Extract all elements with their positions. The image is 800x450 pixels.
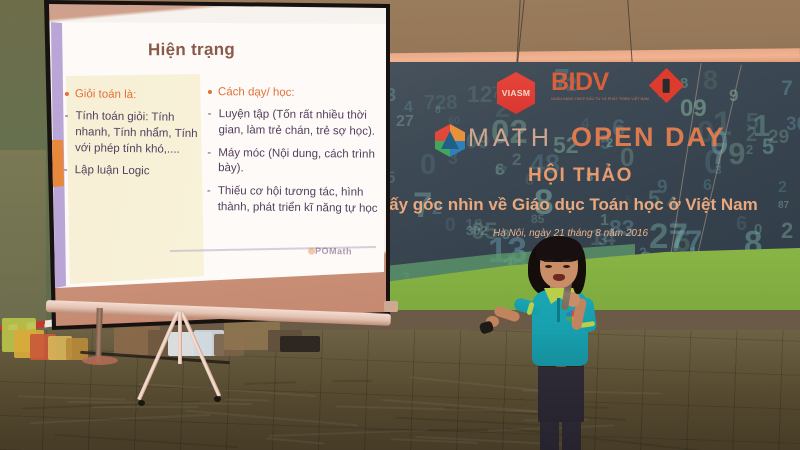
pomath-dot-icon: [308, 248, 315, 255]
bidv-diamond-icon: [649, 68, 684, 103]
tripod-foot-right: [214, 396, 221, 402]
speaker-brow-right: [562, 260, 571, 262]
dash-icon: -: [207, 184, 211, 200]
speaker-brow-left: [544, 260, 553, 262]
banner-number: 6: [736, 213, 747, 236]
slide-column-left-heading: Giỏi toán là:: [65, 88, 200, 104]
speaker-eye-left: [545, 265, 552, 268]
conference-photo-scene: 0927020193867152526038150909272609298838…: [0, 0, 800, 450]
slide-content: Hiện trạng Giỏi toán là: -Tính toán giỏi…: [18, 0, 390, 330]
dash-icon: -: [208, 107, 212, 123]
floor-item: [280, 336, 320, 352]
banner-number: 27: [649, 217, 688, 257]
bidv-logo: BIDV NGÂN HÀNG TMCP ĐẦU TƯ VÀ PHÁT TRIỂN…: [551, 71, 679, 101]
banner-number: 30: [786, 114, 800, 136]
speaker-eye-right: [563, 265, 570, 268]
speaker-hair-front: [536, 236, 582, 262]
tripod-leg-center: [178, 312, 182, 364]
slide-title: Hiện trạng: [148, 40, 235, 60]
banner-number: 2: [512, 150, 521, 170]
bidv-logo-subtitle: NGÂN HÀNG TMCP ĐẦU TƯ VÀ PHÁT TRIỂN VIỆT…: [551, 97, 649, 101]
dash-icon: -: [64, 109, 68, 125]
slide-watermark-logo: POMath: [308, 246, 352, 257]
slide-list-item: -Máy móc (Nội dung, cách trình bày).: [207, 146, 387, 180]
banner-number: 4: [404, 99, 413, 117]
banner-event-title: OPEN DAY: [571, 122, 726, 153]
slide-list-item: -Thiếu cơ hội tương tác, hình thành, phá…: [207, 184, 387, 218]
banner-number: 0: [420, 149, 436, 182]
dash-icon: -: [64, 163, 68, 179]
tripod-foot-left: [138, 400, 145, 406]
banner-number: 5: [762, 134, 774, 160]
screen-roller-cap: [384, 301, 398, 312]
banner-number: 87: [778, 200, 789, 211]
banner-number: 7: [781, 77, 793, 101]
speaker-presenter: [500, 236, 630, 450]
banner-event-subtitle: Mấy góc nhìn về Giáo dục Toán học ở Việt…: [385, 195, 758, 215]
slide-list-item: -Tính toán giỏi: Tính nhanh, Tính nhẩm, …: [64, 109, 200, 159]
slide-column-right: Cách dạy/ học: -Luyện tập (Tốn rất nhiều…: [207, 86, 388, 225]
bullet-dot-icon: [208, 90, 212, 94]
slide-column-left: Giỏi toán là: -Tính toán giỏi: Tính nhan…: [63, 88, 200, 188]
banner-number: 0: [445, 215, 456, 237]
slide-list-item: -Luyện tập (Tốn rất nhiều thời gian, làm…: [207, 107, 387, 141]
floor-item: [66, 338, 88, 360]
banner-number: 2: [781, 218, 793, 244]
banner-number: 5: [746, 108, 759, 135]
banner-number: 728: [424, 92, 457, 115]
speaker-mouth: [553, 274, 565, 281]
screen-mast-foot: [82, 356, 118, 365]
banner-event-kind: HỘI THẢO: [528, 165, 633, 187]
banner-number: 302: [466, 223, 488, 238]
projection-screen-assembly: Hiện trạng Giỏi toán là: -Tính toán giỏi…: [18, 0, 398, 340]
speaker-shirt-placket: [557, 298, 560, 322]
dash-icon: -: [207, 146, 211, 162]
bidv-logo-label: BIDV: [551, 71, 649, 95]
banner-number: 8: [703, 65, 718, 96]
slide-list-item: -Lập luận Logic: [64, 163, 199, 181]
banner-logo-word: MATH: [468, 124, 553, 153]
viasm-logo-label: VIASM: [502, 88, 530, 98]
banner-number: 12: [467, 81, 493, 108]
speaker-trousers: [538, 362, 584, 422]
banner-number: 27: [495, 165, 507, 177]
slide-column-right-heading: Cách dạy/ học:: [208, 86, 388, 102]
banner-number: 2: [778, 179, 787, 197]
bullet-dot-icon: [65, 92, 69, 96]
